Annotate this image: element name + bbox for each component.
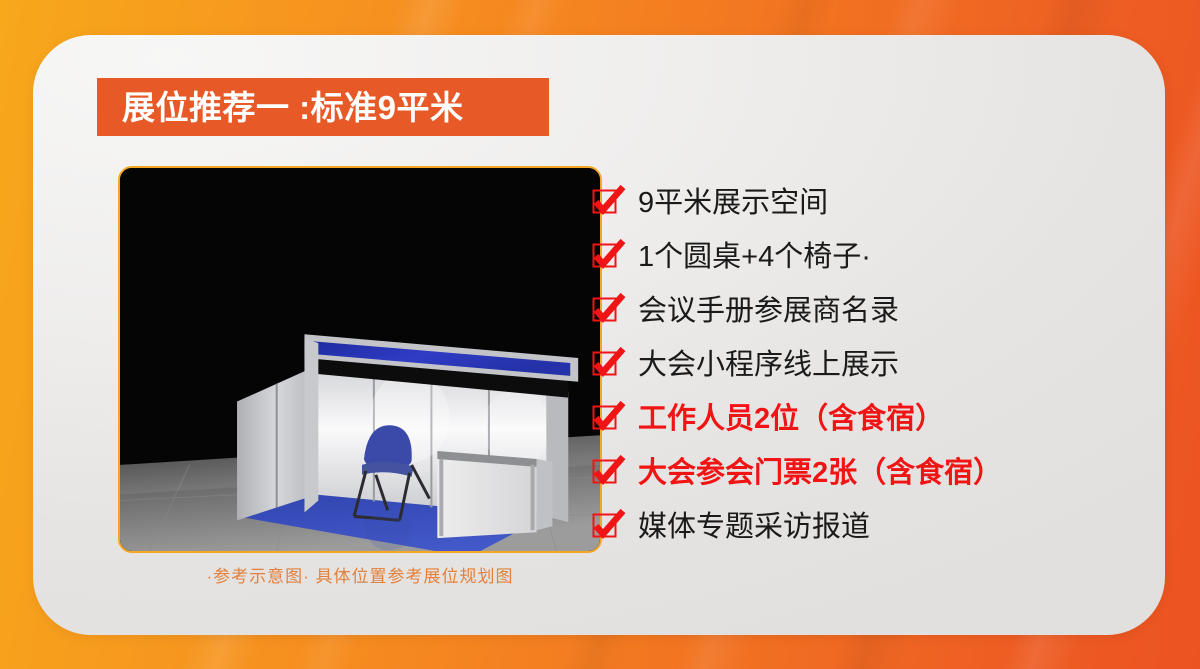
- check-box-icon: [594, 514, 620, 540]
- list-item: 1个圆桌+4个椅子·: [594, 230, 1134, 284]
- booth-render-image: [118, 166, 602, 553]
- list-item: 工作人员2位（含食宿）: [594, 392, 1134, 446]
- feature-list: 9平米展示空间 1个圆桌+4个椅子· 会议手册参展商名录 大会小程序线上展示: [594, 176, 1134, 554]
- check-box-icon: [594, 406, 620, 432]
- list-item-label: 大会参会门票2张（含食宿）: [638, 459, 1002, 488]
- list-item-label: 会议手册参展商名录: [638, 297, 899, 326]
- content-card: 展位推荐一 :标准9平米: [33, 35, 1165, 635]
- booth-illustration: [120, 168, 600, 551]
- poster-page: 展位推荐一 :标准9平米: [0, 0, 1200, 669]
- page-title: 展位推荐一 :标准9平米: [97, 91, 464, 124]
- check-box-icon: [594, 244, 620, 270]
- check-box-icon: [594, 190, 620, 216]
- section-title-banner: 展位推荐一 :标准9平米: [97, 78, 549, 136]
- list-item: 媒体专题采访报道: [594, 500, 1134, 554]
- figure-caption: ·参考示意图· 具体位置参考展位规划图: [118, 562, 602, 587]
- check-box-icon: [594, 460, 620, 486]
- list-item: 9平米展示空间: [594, 176, 1134, 230]
- booth-figure: ·参考示意图· 具体位置参考展位规划图: [118, 166, 602, 553]
- check-box-icon: [594, 352, 620, 378]
- list-item: 大会参会门票2张（含食宿）: [594, 446, 1134, 500]
- list-item-label: 1个圆桌+4个椅子·: [638, 243, 871, 272]
- check-box-icon: [594, 298, 620, 324]
- list-item-label: 工作人员2位（含食宿）: [638, 405, 944, 434]
- list-item-label: 媒体专题采访报道: [638, 513, 870, 542]
- list-item: 大会小程序线上展示: [594, 338, 1134, 392]
- list-item-label: 大会小程序线上展示: [638, 351, 899, 380]
- list-item-label: 9平米展示空间: [638, 189, 828, 218]
- list-item: 会议手册参展商名录: [594, 284, 1134, 338]
